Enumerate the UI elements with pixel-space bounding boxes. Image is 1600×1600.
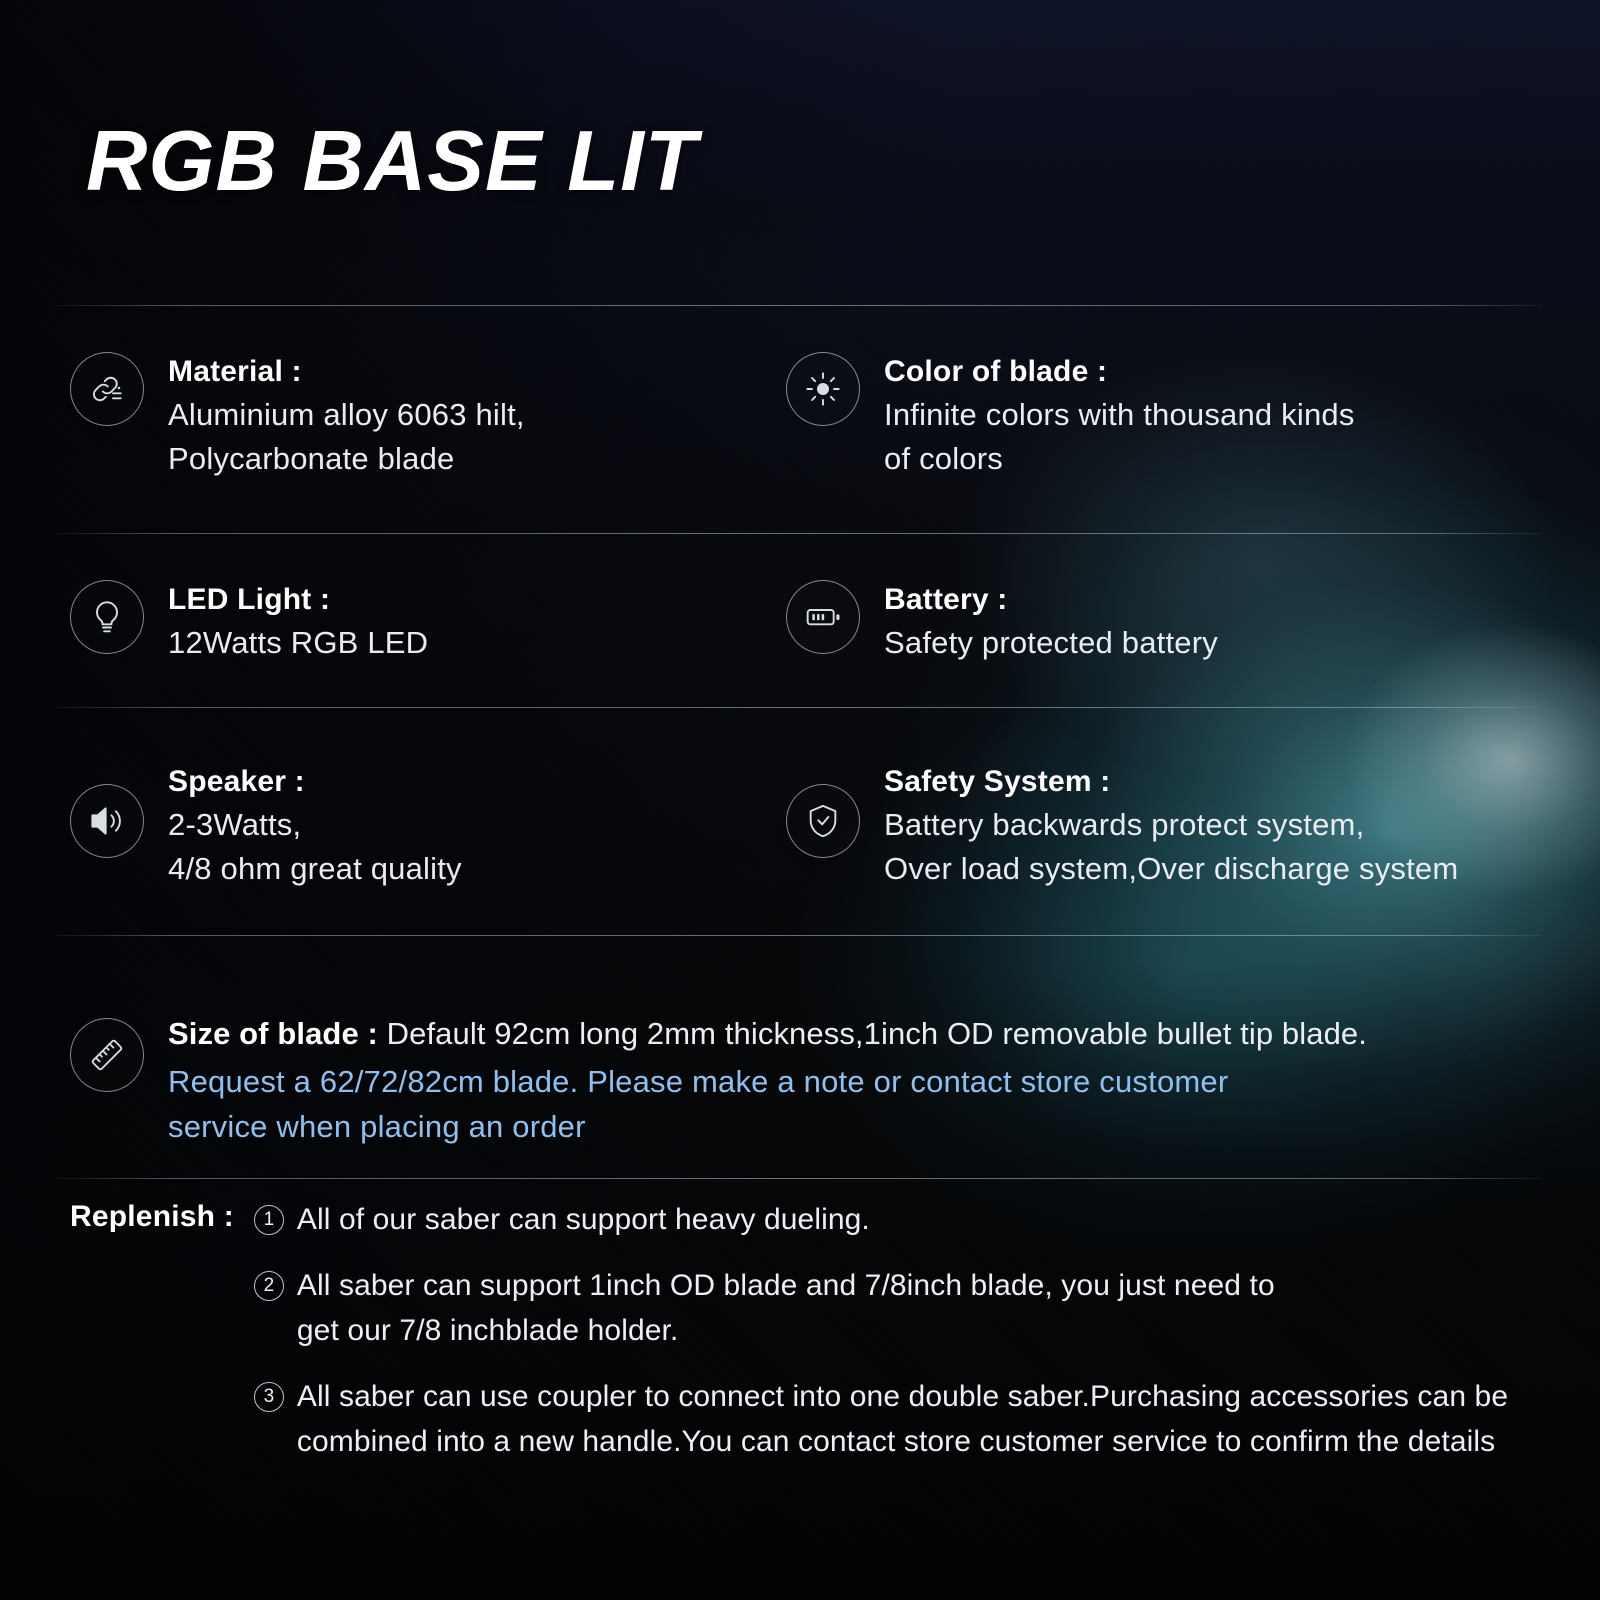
feature-heading: Safety System : xyxy=(884,764,1458,799)
spec-sheet-page: RGB BASE LIT Material : Aluminium alloy … xyxy=(0,0,1600,1600)
size-label: Size of blade : xyxy=(168,1016,378,1051)
ruler-icon xyxy=(70,1018,144,1092)
replenish-label: Replenish : xyxy=(70,1198,234,1234)
feature-size-of-blade: Size of blade : Default 92cm long 2mm th… xyxy=(70,1010,1570,1150)
feature-led-light: LED Light : 12Watts RGB LED xyxy=(70,580,770,665)
feature-text: Color of blade : Infinite colors with th… xyxy=(884,352,1355,481)
lightbulb-icon xyxy=(70,580,144,654)
feature-heading: Battery : xyxy=(884,582,1218,617)
divider-4 xyxy=(55,935,1542,936)
material-link-icon xyxy=(70,352,144,426)
feature-battery: Battery : Safety protected battery xyxy=(786,580,1586,665)
feature-color-of-blade: Color of blade : Infinite colors with th… xyxy=(786,352,1586,481)
size-text: Size of blade : Default 92cm long 2mm th… xyxy=(168,1010,1367,1150)
list-item: 2 All saber can support 1inch OD blade a… xyxy=(254,1264,1570,1353)
replenish-section: Replenish : 1 All of our saber can suppo… xyxy=(70,1198,1570,1464)
list-item-text: All of our saber can support heavy dueli… xyxy=(297,1198,870,1242)
feature-heading: Color of blade : xyxy=(884,354,1355,389)
size-value: Default 92cm long 2mm thickness,1inch OD… xyxy=(387,1016,1367,1051)
feature-safety-system: Safety System : Battery backwards protec… xyxy=(786,762,1586,891)
feature-material: Material : Aluminium alloy 6063 hilt, Po… xyxy=(70,352,770,481)
feature-heading: Material : xyxy=(168,354,525,389)
speaker-volume-icon xyxy=(70,784,144,858)
feature-body: Aluminium alloy 6063 hilt, Polycarbonate… xyxy=(168,393,525,481)
feature-text: Safety System : Battery backwards protec… xyxy=(884,762,1458,891)
feature-body: Battery backwards protect system, Over l… xyxy=(884,803,1458,891)
page-title: RGB BASE LIT xyxy=(86,113,698,211)
shield-check-icon xyxy=(786,784,860,858)
feature-body: 2-3Watts, 4/8 ohm great quality xyxy=(168,803,462,891)
battery-icon xyxy=(786,580,860,654)
list-number-1: 1 xyxy=(254,1205,284,1235)
feature-heading: Speaker : xyxy=(168,764,462,799)
feature-body: 12Watts RGB LED xyxy=(168,621,428,665)
list-item: 3 All saber can use coupler to connect i… xyxy=(254,1375,1570,1464)
list-number-2: 2 xyxy=(254,1271,284,1301)
list-item: 1 All of our saber can support heavy due… xyxy=(254,1198,1570,1242)
brightness-sun-icon xyxy=(786,352,860,426)
size-note: Request a 62/72/82cm blade. Please make … xyxy=(168,1060,1367,1150)
divider-5 xyxy=(55,1178,1542,1179)
divider-2 xyxy=(55,533,1542,534)
list-number-3: 3 xyxy=(254,1382,284,1412)
feature-text: Battery : Safety protected battery xyxy=(884,580,1218,665)
divider-1 xyxy=(55,305,1542,306)
feature-text: LED Light : 12Watts RGB LED xyxy=(168,580,428,665)
feature-text: Speaker : 2-3Watts, 4/8 ohm great qualit… xyxy=(168,762,462,891)
feature-speaker: Speaker : 2-3Watts, 4/8 ohm great qualit… xyxy=(70,762,770,891)
list-item-text: All saber can support 1inch OD blade and… xyxy=(297,1264,1275,1353)
feature-body: Safety protected battery xyxy=(884,621,1218,665)
replenish-row: Replenish : 1 All of our saber can suppo… xyxy=(70,1198,1570,1464)
size-line: Size of blade : Default 92cm long 2mm th… xyxy=(168,1014,1367,1054)
replenish-items: 1 All of our saber can support heavy due… xyxy=(254,1198,1570,1464)
divider-3 xyxy=(55,707,1542,708)
feature-body: Infinite colors with thousand kinds of c… xyxy=(884,393,1355,481)
list-item-text: All saber can use coupler to connect int… xyxy=(297,1375,1508,1464)
feature-heading: LED Light : xyxy=(168,582,428,617)
feature-text: Material : Aluminium alloy 6063 hilt, Po… xyxy=(168,352,525,481)
